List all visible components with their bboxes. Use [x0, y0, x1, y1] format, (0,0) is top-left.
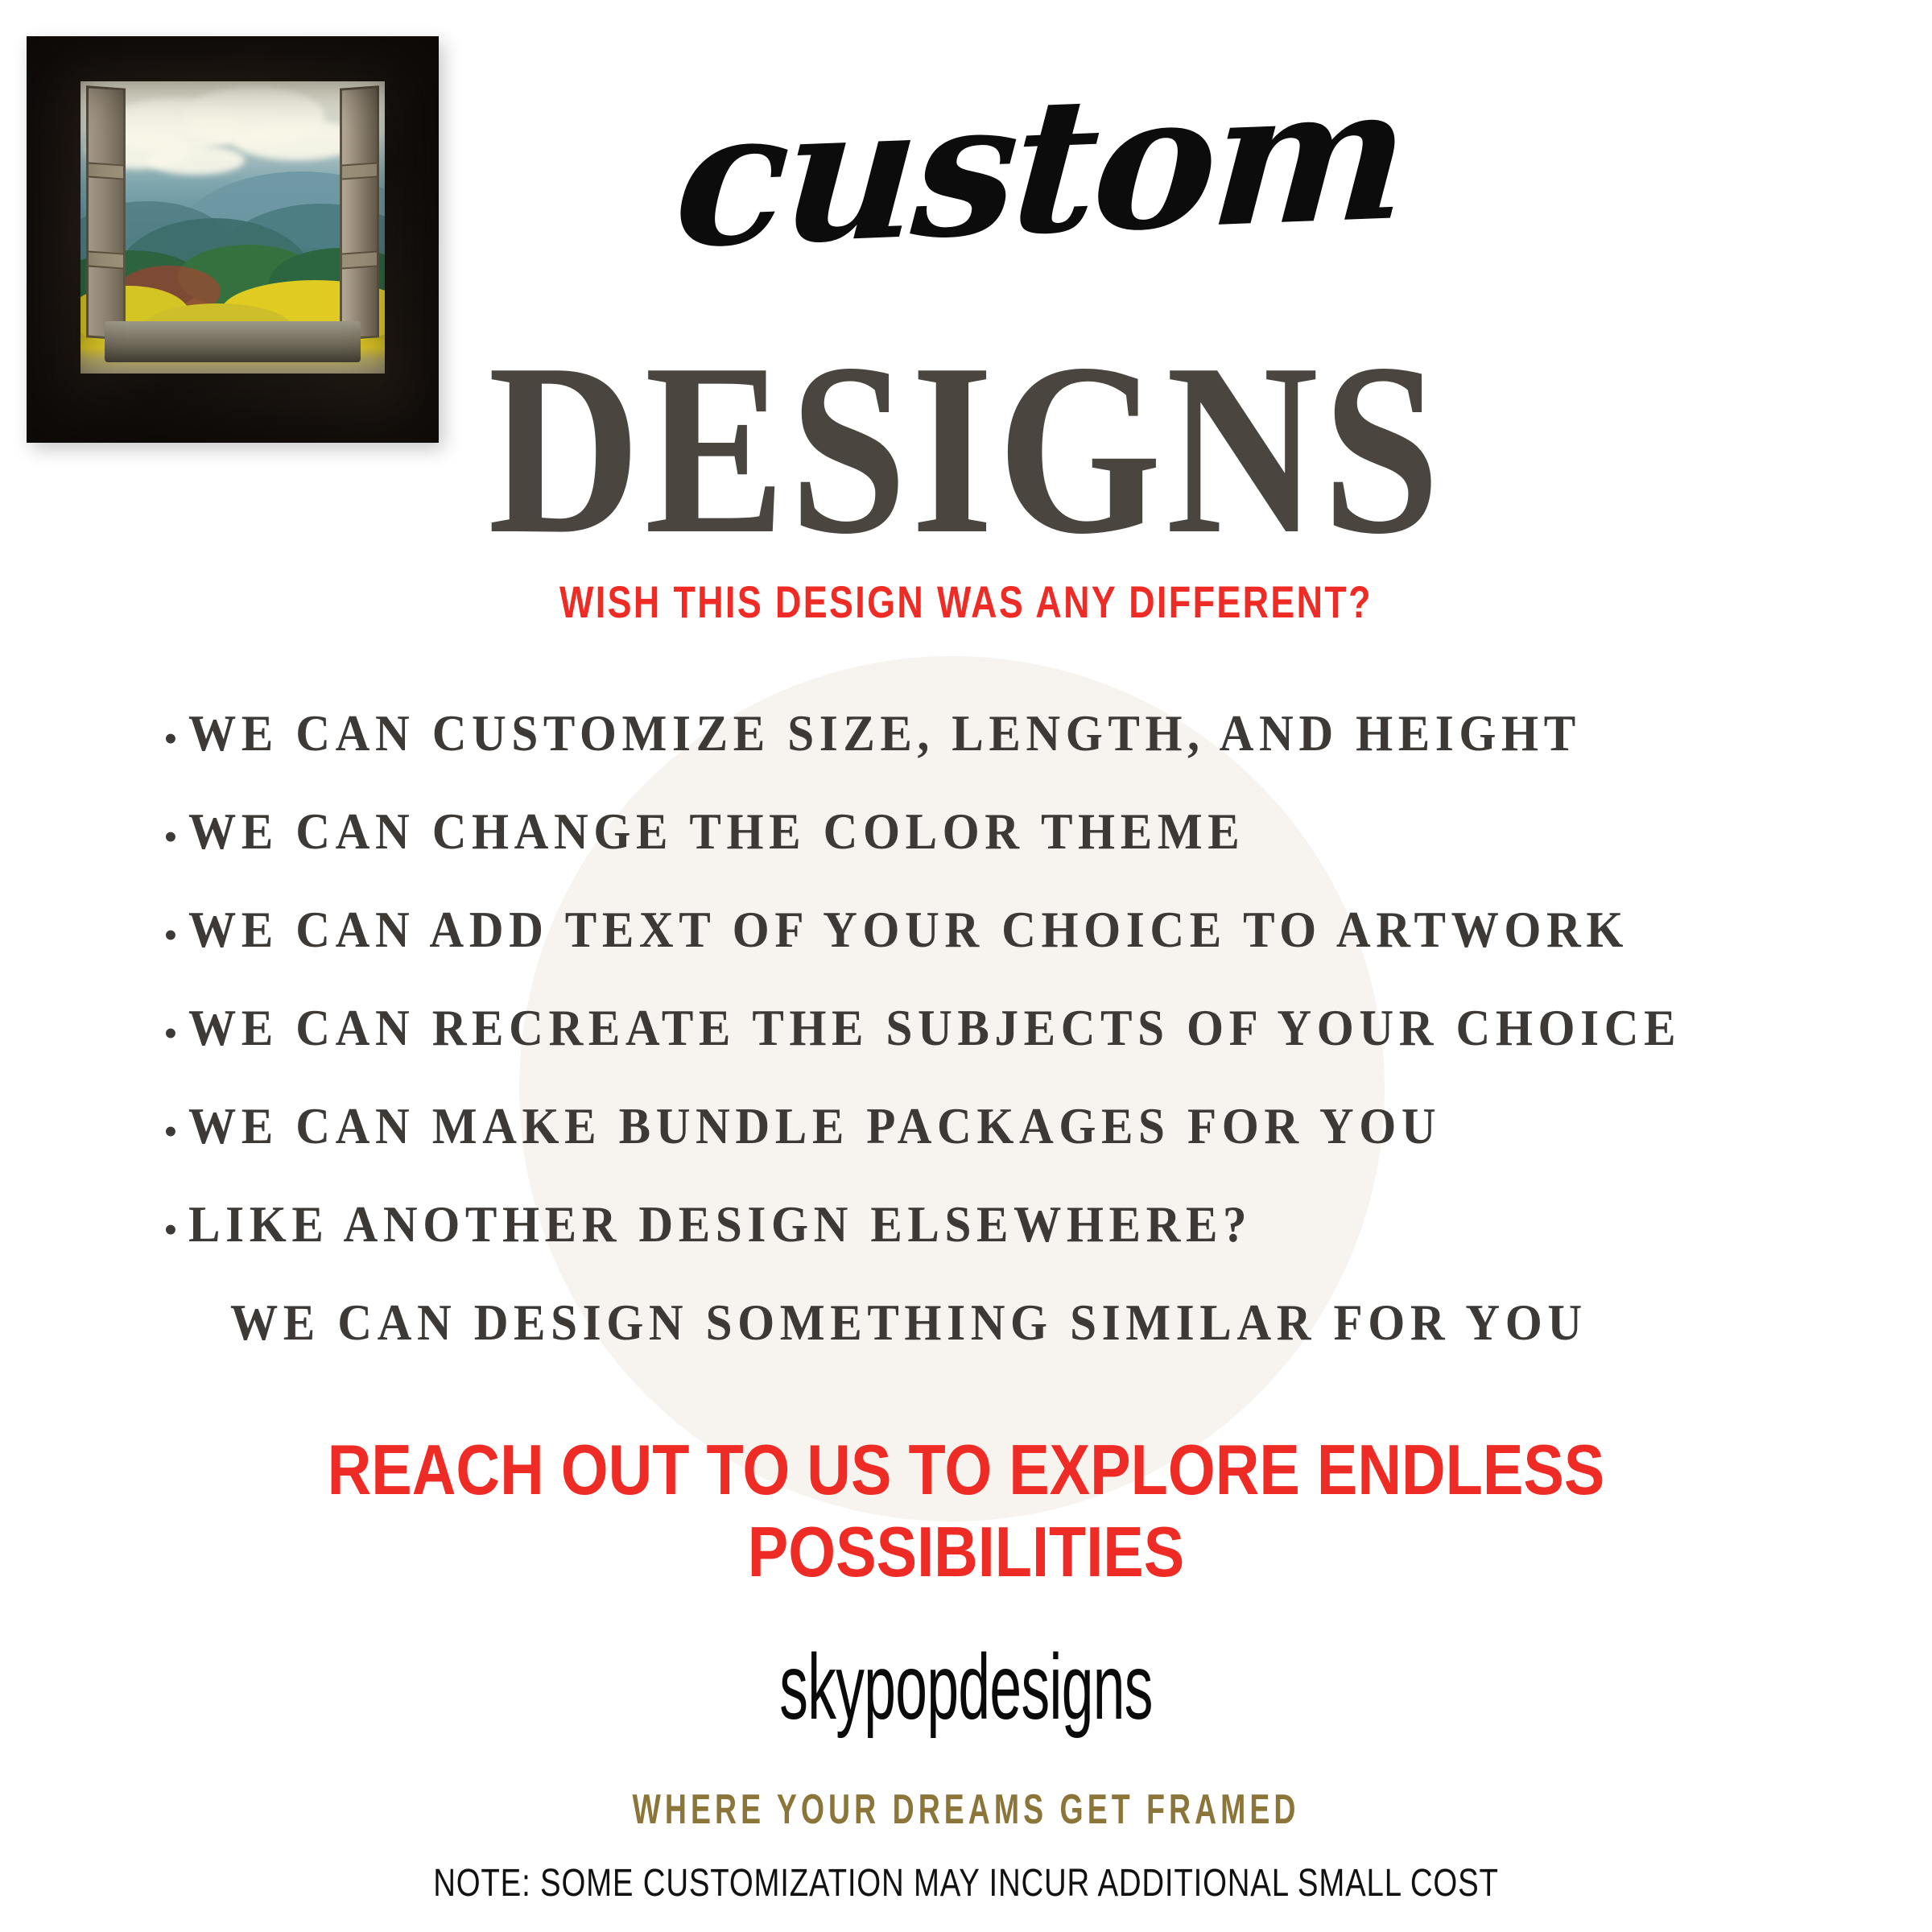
- list-item: •WE CAN CHANGE THE COLOR THEME: [153, 803, 1843, 901]
- list-item: •WE CAN RECREATE THE SUBJECTS OF YOUR CH…: [153, 999, 1843, 1097]
- window-muntin: [342, 162, 377, 180]
- list-item-label: WE CAN DESIGN SOMETHING SIMILAR FOR YOU: [230, 1294, 1587, 1352]
- call-to-action-text: REACH OUT TO US TO EXPLORE ENDLESS POSSI…: [135, 1429, 1797, 1593]
- list-item: •WE CAN MAKE BUNDLE PACKAGES FOR YOU: [153, 1097, 1843, 1195]
- window-muntin: [89, 162, 123, 180]
- bullet-dot-icon: •: [153, 1212, 188, 1248]
- window-muntin: [342, 251, 377, 269]
- window-muntin: [89, 251, 123, 269]
- list-item-label: LIKE ANOTHER DESIGN ELSEWHERE?: [188, 1195, 1252, 1254]
- list-item-label: WE CAN RECREATE THE SUBJECTS OF YOUR CHO…: [188, 999, 1681, 1058]
- brand-name: skypopdesigns: [367, 1634, 1565, 1740]
- list-item-label: WE CAN MAKE BUNDLE PACKAGES FOR YOU: [188, 1097, 1441, 1156]
- list-item: •LIKE ANOTHER DESIGN ELSEWHERE?: [153, 1195, 1843, 1294]
- brand-tagline: WHERE YOUR DREAMS GET FRAMED: [270, 1785, 1662, 1834]
- list-item: •WE CAN ADD TEXT OF YOUR CHOICE TO ARTWO…: [153, 901, 1843, 999]
- list-item-label: WE CAN CHANGE THE COLOR THEME: [188, 803, 1245, 861]
- main-heading-designs: DESIGNS: [135, 326, 1797, 572]
- script-heading-custom: custom: [671, 64, 1294, 274]
- cloud-shape: [147, 146, 245, 175]
- subheading-question: WISH THIS DESIGN WAS ANY DIFFERENT?: [193, 576, 1739, 628]
- window-casement-left: [86, 85, 126, 340]
- list-item: WE CAN DESIGN SOMETHING SIMILAR FOR YOU: [153, 1294, 1843, 1392]
- bullet-dot-icon: •: [153, 918, 188, 953]
- bullet-dot-icon: •: [153, 721, 188, 757]
- list-item-label: WE CAN CUSTOMIZE SIZE, LENGTH, AND HEIGH…: [188, 704, 1581, 763]
- window-casement-right: [340, 85, 379, 340]
- footnote-disclaimer: NOTE: SOME CUSTOMIZATION MAY INCUR ADDIT…: [193, 1861, 1739, 1905]
- bullet-dot-icon: •: [153, 1016, 188, 1051]
- poster-canvas: custom DESIGNS WISH THIS DESIGN WAS ANY …: [0, 0, 1932, 1932]
- list-item-label: WE CAN ADD TEXT OF YOUR CHOICE TO ARTWOR…: [188, 901, 1629, 960]
- feature-bullet-list: •WE CAN CUSTOMIZE SIZE, LENGTH, AND HEIG…: [153, 704, 1843, 1392]
- bullet-dot-icon: •: [153, 1114, 188, 1150]
- bullet-dot-icon: •: [153, 819, 188, 855]
- list-item: •WE CAN CUSTOMIZE SIZE, LENGTH, AND HEIG…: [153, 704, 1843, 803]
